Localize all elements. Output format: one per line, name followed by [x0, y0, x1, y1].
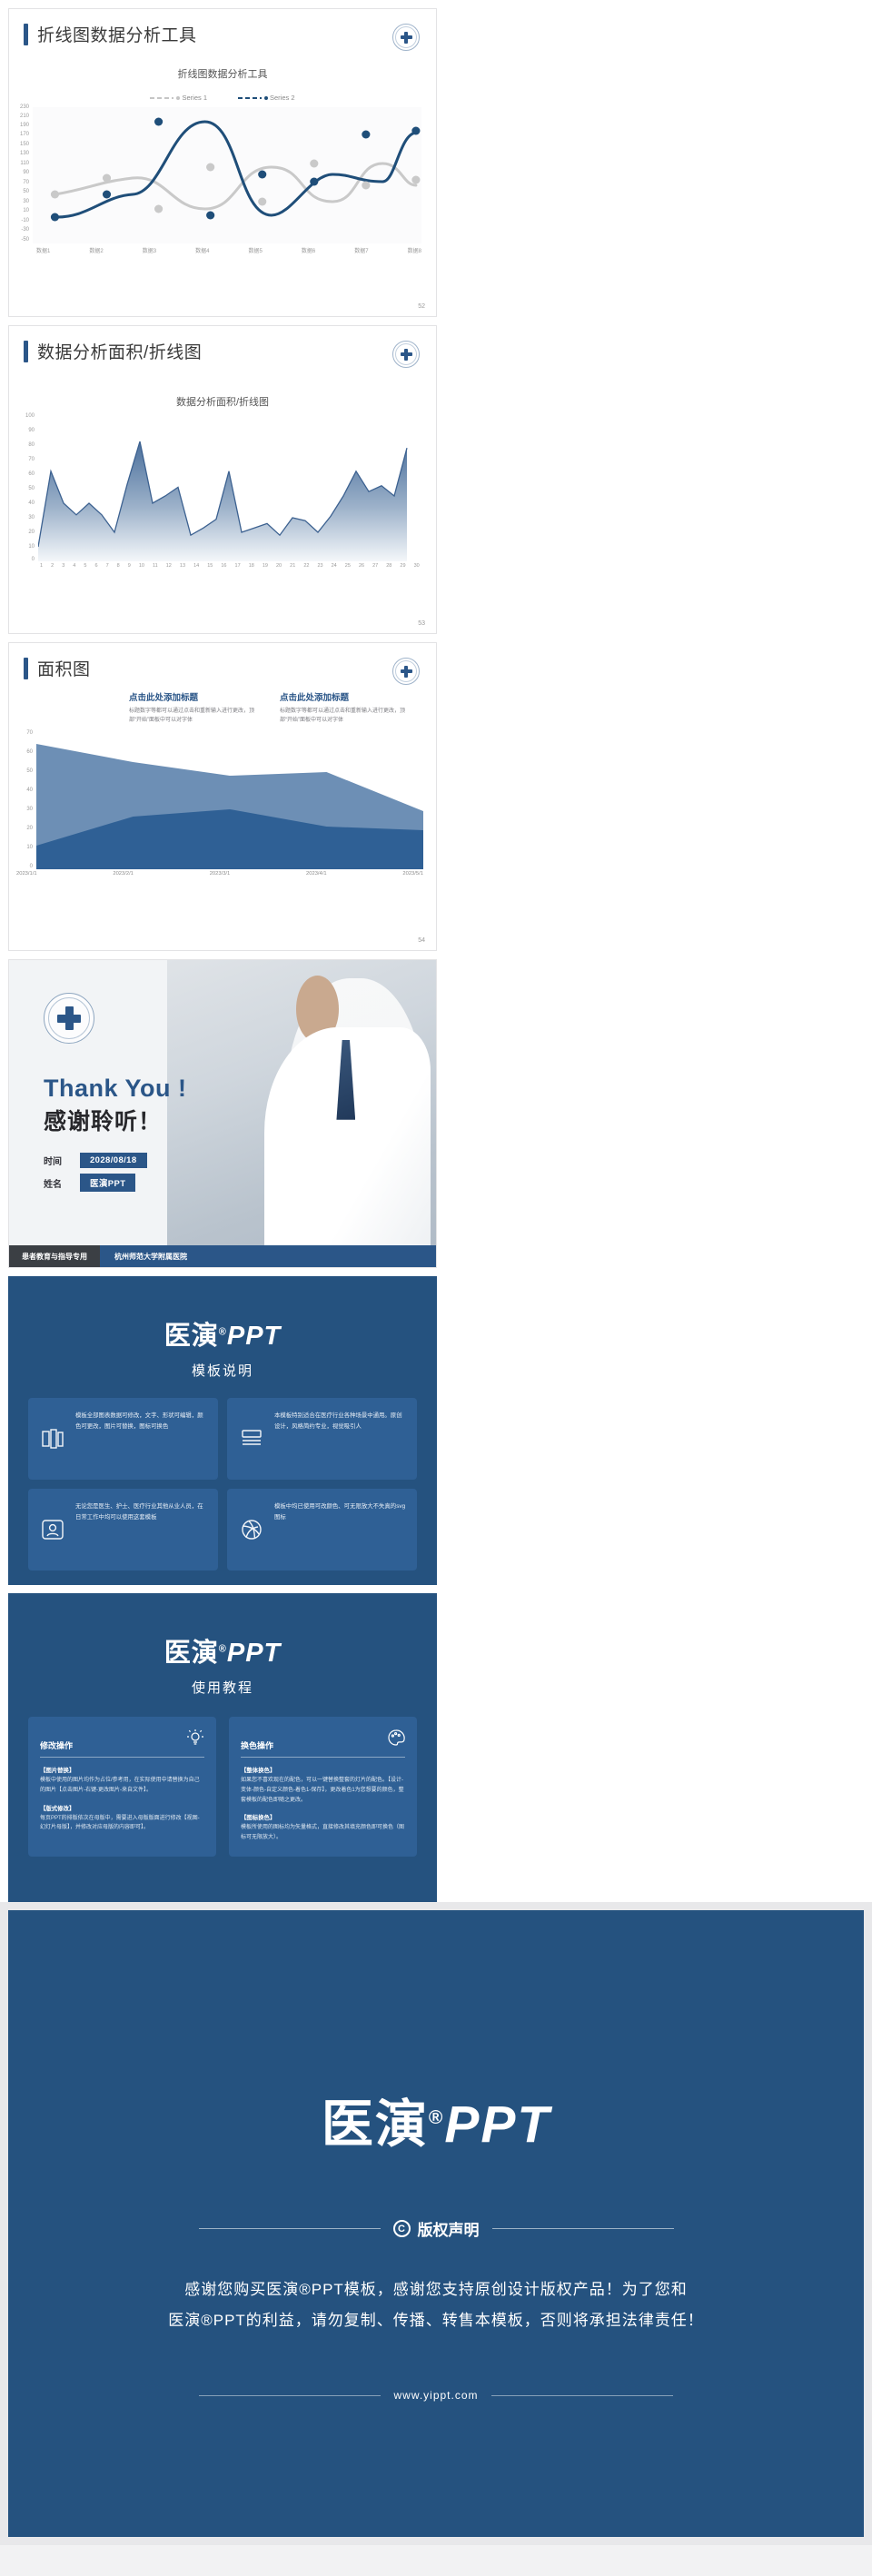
x-tick: 28 [386, 563, 391, 569]
callout-2: 点击此处添加标题 标题数字等都可以通过点击和重新输入进行更改，顶部“开始”面板中… [280, 690, 416, 726]
x-tick: 2 [51, 563, 54, 569]
legend-label: Series 1 [182, 94, 207, 102]
x-tick: 12 [166, 563, 172, 569]
slide-number: 54 [418, 937, 425, 944]
dribbble-icon [238, 1501, 265, 1558]
copyright-c-icon: C [393, 2220, 411, 2237]
x-tick: 25 [345, 563, 351, 569]
brand-logo: 医演®PPT [8, 1314, 437, 1352]
info-card: 无论您是医生、护士、医疗行业其他从业人员，在日常工作中均可以使用这套模板 [28, 1489, 218, 1570]
doctor-photo [167, 960, 436, 1267]
x-tick: 19 [263, 563, 268, 569]
x-axis-labels: 数据1 数据2 数据3 数据4 数据5 数据6 数据7 数据8 [36, 246, 421, 254]
y-tick: -10 [11, 218, 29, 223]
meta-key: 姓名 [44, 1176, 80, 1190]
line-chart-svg [33, 107, 421, 243]
hospital-logo-icon [392, 24, 420, 51]
x-tick: 2023/5/1 [402, 871, 423, 877]
y-tick: 0 [16, 557, 35, 562]
hospital-logo-icon [392, 341, 420, 368]
copyright-label: 版权声明 [418, 2217, 480, 2240]
callout-body: 标题数字等都可以通过点击和重新输入进行更改，顶部“开始”面板中可以对字体 [129, 708, 265, 726]
legend-item-series2: Series 2 [238, 94, 295, 102]
y-tick: 170 [11, 132, 29, 137]
slide-template-info[interactable]: 医演®PPT 模板说明 模板全部图表数据可修改，文字、形状可编辑，颜色可更改，图… [8, 1276, 437, 1585]
x-tick: 1 [40, 563, 43, 569]
slide-number: 53 [418, 620, 425, 627]
brand-name: 医演 [164, 1639, 219, 1668]
legend-label: Series 2 [270, 94, 295, 102]
info-card: 模板全部图表数据可修改，文字、形状可编辑，颜色可更改，图片可替换，图标可换色 [28, 1398, 218, 1480]
x-tick: 数据2 [89, 246, 103, 254]
y-tick: 70 [15, 730, 33, 736]
x-tick: 16 [221, 563, 226, 569]
info-card: 模板中均已使用可改颜色、可无限放大不失真的svg图标 [227, 1489, 417, 1570]
area-fill [38, 441, 407, 561]
series2-points [51, 118, 421, 222]
y-tick: 30 [15, 807, 33, 812]
x-tick: 2023/1/1 [16, 871, 37, 877]
callouts: 点击此处添加标题 标题数字等都可以通过点击和重新输入进行更改，顶部“开始”面板中… [129, 690, 429, 726]
y-tick: 40 [16, 500, 35, 506]
meta-key: 时间 [44, 1154, 80, 1167]
x-tick: 5 [84, 563, 86, 569]
bulb-icon [186, 1729, 204, 1751]
chart-title: 折线图数据分析工具 [9, 66, 436, 81]
slide-number: 52 [418, 303, 425, 310]
title-accent-bar [24, 341, 28, 362]
x-tick: 2023/4/1 [306, 871, 327, 877]
copyright-brand-logo: 医演®PPT [8, 1910, 864, 2157]
slide-footer: 患者教育与指导专用 杭州师范大学附属医院 [9, 1245, 436, 1267]
x-tick: 11 [153, 563, 158, 569]
x-tick: 6 [94, 563, 97, 569]
slide-header: 面积图 [9, 643, 436, 680]
info-card-text: 本模板特别适合在医疗行业各种场景中通用。原创设计，风格简约专业，视觉吸引人 [274, 1411, 406, 1467]
page-title: 折线图数据分析工具 [37, 22, 197, 46]
y-tick: 70 [16, 457, 35, 462]
x-tick: 26 [359, 563, 364, 569]
brand-name: 医演 [322, 2095, 429, 2154]
user-icon [39, 1501, 66, 1558]
brand-ppt: PPT [227, 1322, 281, 1351]
copyright-url[interactable]: www.yippt.com [393, 2389, 478, 2402]
copyright-divider: C 版权声明 [8, 2217, 864, 2240]
brand-subtitle: 使用教程 [8, 1678, 437, 1697]
y-tick: 0 [15, 864, 33, 869]
thank-you-english: Thank You ! [44, 1075, 187, 1103]
brand-block: 医演®PPT 使用教程 [8, 1593, 437, 1697]
page-bottom-spacer [0, 2545, 872, 2576]
page-title: 面积图 [37, 656, 91, 680]
y-tick: 90 [11, 170, 29, 175]
callout-heading: 点击此处添加标题 [129, 690, 265, 703]
x-tick: 14 [193, 563, 199, 569]
meta-value: 2028/08/18 [80, 1153, 147, 1168]
x-tick: 13 [180, 563, 185, 569]
tutorial-block-body: 模板所使用的图标均为矢量格式，直接修改其填充颜色即可换色（图标可无限放大）。 [241, 1823, 405, 1843]
tutorial-heading: 修改操作 [40, 1739, 73, 1751]
y-tick: 70 [11, 180, 29, 185]
brand-ppt: PPT [444, 2095, 550, 2154]
stacked-area-plot: 70 60 50 40 30 20 10 0 [36, 733, 423, 869]
title-accent-bar [24, 658, 28, 679]
y-tick: 50 [11, 189, 29, 194]
slide-line-chart-tool[interactable]: 折线图数据分析工具 折线图数据分析工具 Series 1 Series 2 23… [8, 8, 437, 317]
brand-registered-mark: ® [219, 1326, 227, 1337]
y-tick: 10 [15, 845, 33, 850]
brand-subtitle: 模板说明 [8, 1361, 437, 1380]
y-tick: 190 [11, 123, 29, 128]
x-tick: 3 [62, 563, 64, 569]
x-tick: 数据8 [408, 246, 421, 254]
slide-header: 折线图数据分析工具 [9, 9, 436, 46]
series2-line [54, 122, 415, 217]
copyright-url-divider: www.yippt.com [8, 2389, 864, 2402]
x-tick: 22 [303, 563, 309, 569]
tutorial-column-header: 修改操作 [40, 1729, 204, 1758]
x-tick: 29 [400, 563, 405, 569]
y-tick: 150 [11, 142, 29, 147]
y-tick: 110 [11, 161, 29, 166]
hospital-logo-icon [392, 658, 420, 685]
meta-row-time: 时间 2028/08/18 [44, 1153, 147, 1168]
copyright-line-2: 医演®PPT的利益，请勿复制、传播、转售本模板，否则将承担法律责任！ [8, 2305, 864, 2336]
x-tick: 30 [414, 563, 420, 569]
stacked-area-svg [36, 733, 423, 869]
tutorial-block: 【版式修改】 每页PPT的排版依次在母版中，需要进入母版版面进行修改【视图-幻灯… [40, 1804, 204, 1834]
legend-item-series1: Series 1 [150, 94, 207, 102]
footer-left-label: 患者教育与指导专用 [9, 1245, 100, 1267]
x-tick: 27 [372, 563, 378, 569]
title-accent-bar [24, 24, 28, 45]
slide-copyright[interactable]: 医演®PPT C 版权声明 感谢您购买医演®PPT模板，感谢您支持原创设计版权产… [8, 1910, 864, 2537]
tutorial-column-header: 换色操作 [241, 1729, 405, 1758]
x-tick: 4 [73, 563, 75, 569]
y-tick: 90 [16, 428, 35, 433]
tutorial-block: 【整体换色】 如果您不喜欢现在的配色，可以一键替换整套的灯片的配色。【设计-变体… [241, 1766, 405, 1805]
meta-row-name: 姓名 医演PPT [44, 1174, 147, 1192]
tutorial-heading: 换色操作 [241, 1739, 273, 1751]
x-axis-labels: 2023/1/1 2023/2/1 2023/3/1 2023/4/1 2023… [16, 871, 423, 877]
x-tick: 2023/3/1 [210, 871, 231, 877]
x-tick: 24 [332, 563, 337, 569]
slide-grid: 折线图数据分析工具 折线图数据分析工具 Series 1 Series 2 23… [0, 0, 872, 1902]
info-card-text: 模板全部图表数据可修改，文字、形状可编辑，颜色可更改，图片可替换，图标可换色 [75, 1411, 207, 1467]
y-tick: 80 [16, 442, 35, 448]
layers-icon [238, 1411, 265, 1467]
copyright-line-1: 感谢您购买医演®PPT模板，感谢您支持原创设计版权产品！为了您和 [8, 2274, 864, 2305]
palette-icon [387, 1729, 405, 1751]
copyright-text: 感谢您购买医演®PPT模板，感谢您支持原创设计版权产品！为了您和 医演®PPT的… [8, 2274, 864, 2336]
x-tick: 18 [249, 563, 254, 569]
area-chart-svg [38, 416, 420, 561]
area-chart-plot: 100 90 80 70 60 50 40 30 20 10 0 [38, 416, 420, 561]
tutorial-column-edit: 修改操作 【图片替换】 模板中使用的图片均作为占位/参考用，在实际使用中请替换为… [28, 1717, 216, 1857]
brand-name: 医演 [164, 1322, 219, 1351]
y-tick: 30 [16, 515, 35, 520]
tutorial-block-body: 如果您不喜欢现在的配色，可以一键替换整套的灯片的配色。【设计-变体-颜色-自定义… [241, 1776, 405, 1805]
y-tick: 100 [16, 413, 35, 419]
y-tick: 60 [16, 471, 35, 477]
callout-body: 标题数字等都可以通过点击和重新输入进行更改，顶部“开始”面板中可以对字体 [280, 708, 416, 726]
x-tick: 10 [139, 563, 144, 569]
callout-1: 点击此处添加标题 标题数字等都可以通过点击和重新输入进行更改，顶部“开始”面板中… [129, 690, 265, 726]
x-tick: 数据1 [36, 246, 50, 254]
brand-registered-mark: ® [429, 2107, 444, 2128]
x-tick: 2023/2/1 [113, 871, 134, 877]
x-tick: 15 [207, 563, 213, 569]
y-tick: 50 [16, 486, 35, 491]
x-tick: 8 [117, 563, 120, 569]
x-tick: 9 [128, 563, 131, 569]
tutorial-block-body: 每页PPT的排版依次在母版中，需要进入母版版面进行修改【视图-幻灯片母版】，并修… [40, 1814, 204, 1834]
y-tick: 10 [11, 208, 29, 213]
slide-thank-you[interactable]: Thank You ! 感谢聆听！ 时间 2028/08/18 姓名 医演PPT… [8, 959, 437, 1268]
y-tick: 40 [15, 788, 33, 793]
meta-value: 医演PPT [80, 1174, 135, 1192]
line-chart-plot: 230 210 190 170 150 130 110 90 70 50 30 … [33, 107, 421, 243]
info-card: 本模板特别适合在医疗行业各种场景中通用。原创设计，风格简约专业，视觉吸引人 [227, 1398, 417, 1480]
copyright-label-group: C 版权声明 [393, 2217, 480, 2240]
chart-legend: Series 1 Series 2 [9, 94, 436, 102]
y-tick: 60 [15, 749, 33, 755]
x-tick: 23 [317, 563, 322, 569]
tutorial-block-title: 【图片替换】 [40, 1766, 204, 1774]
chart-title: 数据分析面积/折线图 [9, 394, 436, 409]
y-tick: 210 [11, 114, 29, 119]
x-tick: 21 [290, 563, 295, 569]
tutorial-block-title: 【图标换色】 [241, 1813, 405, 1821]
info-card-text: 模板中均已使用可改颜色、可无限放大不失真的svg图标 [274, 1501, 406, 1558]
slide-area-chart[interactable]: 面积图 点击此处添加标题 标题数字等都可以通过点击和重新输入进行更改，顶部“开始… [8, 642, 437, 951]
x-tick: 数据4 [195, 246, 209, 254]
y-tick: -30 [11, 227, 29, 233]
x-tick: 20 [276, 563, 282, 569]
tutorial-columns: 修改操作 【图片替换】 模板中使用的图片均作为占位/参考用，在实际使用中请替换为… [28, 1717, 417, 1857]
tutorial-block-title: 【版式修改】 [40, 1804, 204, 1812]
x-tick: 数据3 [143, 246, 156, 254]
callout-heading: 点击此处添加标题 [280, 690, 416, 703]
slide-header: 数据分析面积/折线图 [9, 326, 436, 363]
x-tick: 数据5 [249, 246, 263, 254]
x-tick: 数据7 [354, 246, 368, 254]
y-tick: 50 [15, 768, 33, 774]
x-tick: 17 [235, 563, 241, 569]
y-tick: -50 [11, 237, 29, 243]
tutorial-block-title: 【整体换色】 [241, 1766, 405, 1774]
book-icon [39, 1411, 66, 1467]
x-axis-labels: 1 2 3 4 5 6 7 8 9 10 11 12 13 14 15 16 1… [40, 563, 420, 569]
y-tick: 10 [16, 544, 35, 550]
tutorial-block: 【图标换色】 模板所使用的图标均为矢量格式，直接修改其填充颜色即可换色（图标可无… [241, 1813, 405, 1843]
hospital-logo-large-icon [44, 993, 94, 1044]
tutorial-column-color: 换色操作 【整体换色】 如果您不喜欢现在的配色，可以一键替换整套的灯片的配色。【… [229, 1717, 417, 1857]
slide-area-line-chart[interactable]: 数据分析面积/折线图 数据分析面积/折线图 100 90 80 70 60 50… [8, 325, 437, 634]
footer-right-label: 杭州师范大学附属医院 [100, 1245, 436, 1267]
y-tick: 20 [15, 826, 33, 831]
x-tick: 7 [106, 563, 109, 569]
y-tick: 30 [11, 199, 29, 204]
brand-ppt: PPT [227, 1639, 281, 1668]
brand-logo: 医演®PPT [8, 1631, 437, 1669]
page-title: 数据分析面积/折线图 [37, 339, 202, 363]
meta-list: 时间 2028/08/18 姓名 医演PPT [44, 1153, 147, 1197]
info-cards: 模板全部图表数据可修改，文字、形状可编辑，颜色可更改，图片可替换，图标可换色 本… [28, 1398, 417, 1570]
x-tick: 数据6 [302, 246, 315, 254]
thank-you-chinese: 感谢聆听！ [44, 1104, 162, 1136]
y-tick: 20 [16, 530, 35, 535]
tutorial-block-body: 模板中使用的图片均作为占位/参考用，在实际使用中请替换为自己的图片【点击图片-右… [40, 1776, 204, 1796]
series1-line [54, 163, 415, 209]
brand-block: 医演®PPT 模板说明 [8, 1276, 437, 1380]
y-tick: 130 [11, 151, 29, 156]
y-tick: 230 [11, 104, 29, 110]
info-card-text: 无论您是医生、护士、医疗行业其他从业人员，在日常工作中均可以使用这套模板 [75, 1501, 207, 1558]
slide-tutorial[interactable]: 医演®PPT 使用教程 修改操作 【图片替换】 模板中使用的图片均作为占位/参考… [8, 1593, 437, 1902]
brand-registered-mark: ® [219, 1643, 227, 1654]
tutorial-block: 【图片替换】 模板中使用的图片均作为占位/参考用，在实际使用中请替换为自己的图片… [40, 1766, 204, 1796]
series1-points [51, 160, 421, 213]
